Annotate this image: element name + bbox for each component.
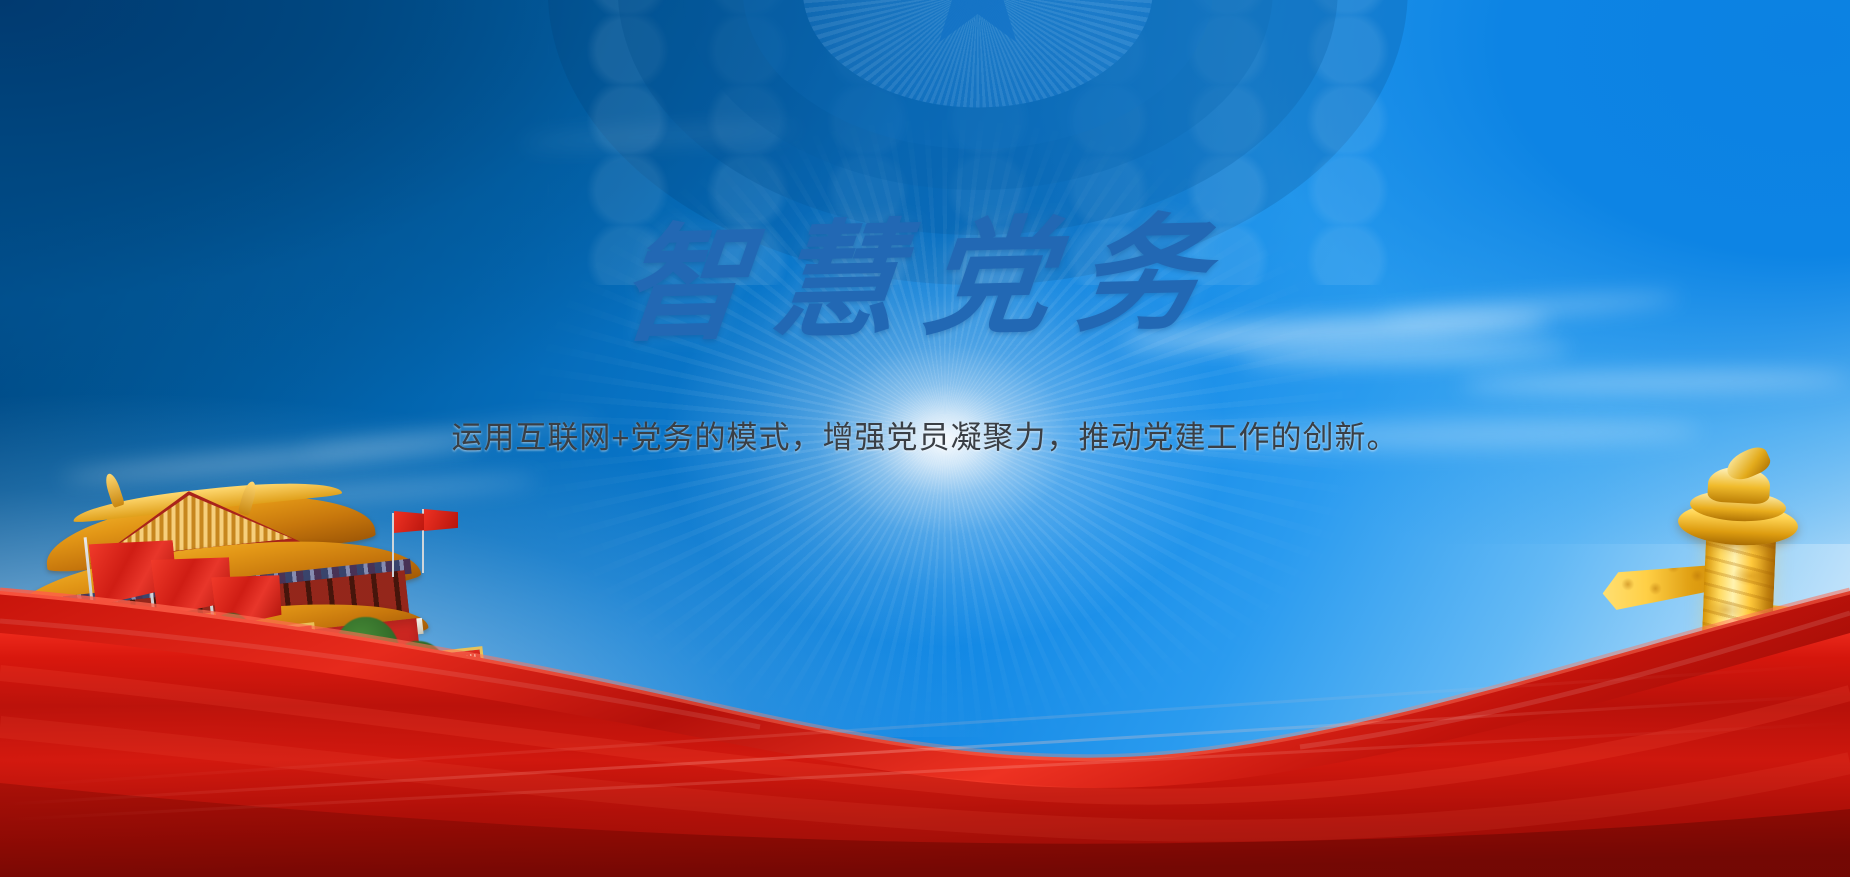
flagpole — [392, 513, 394, 577]
party-affairs-banner: 智慧党务 运用互联网+党务的模式，增强党员凝聚力，推动党建工作的创新。 中华人民… — [0, 0, 1850, 877]
red-silk-ribbon — [0, 577, 1850, 877]
red-flag-icon — [394, 511, 428, 533]
small-flag-pair — [386, 497, 476, 577]
roof-finial-icon — [103, 472, 125, 508]
red-flag-icon — [424, 509, 458, 531]
